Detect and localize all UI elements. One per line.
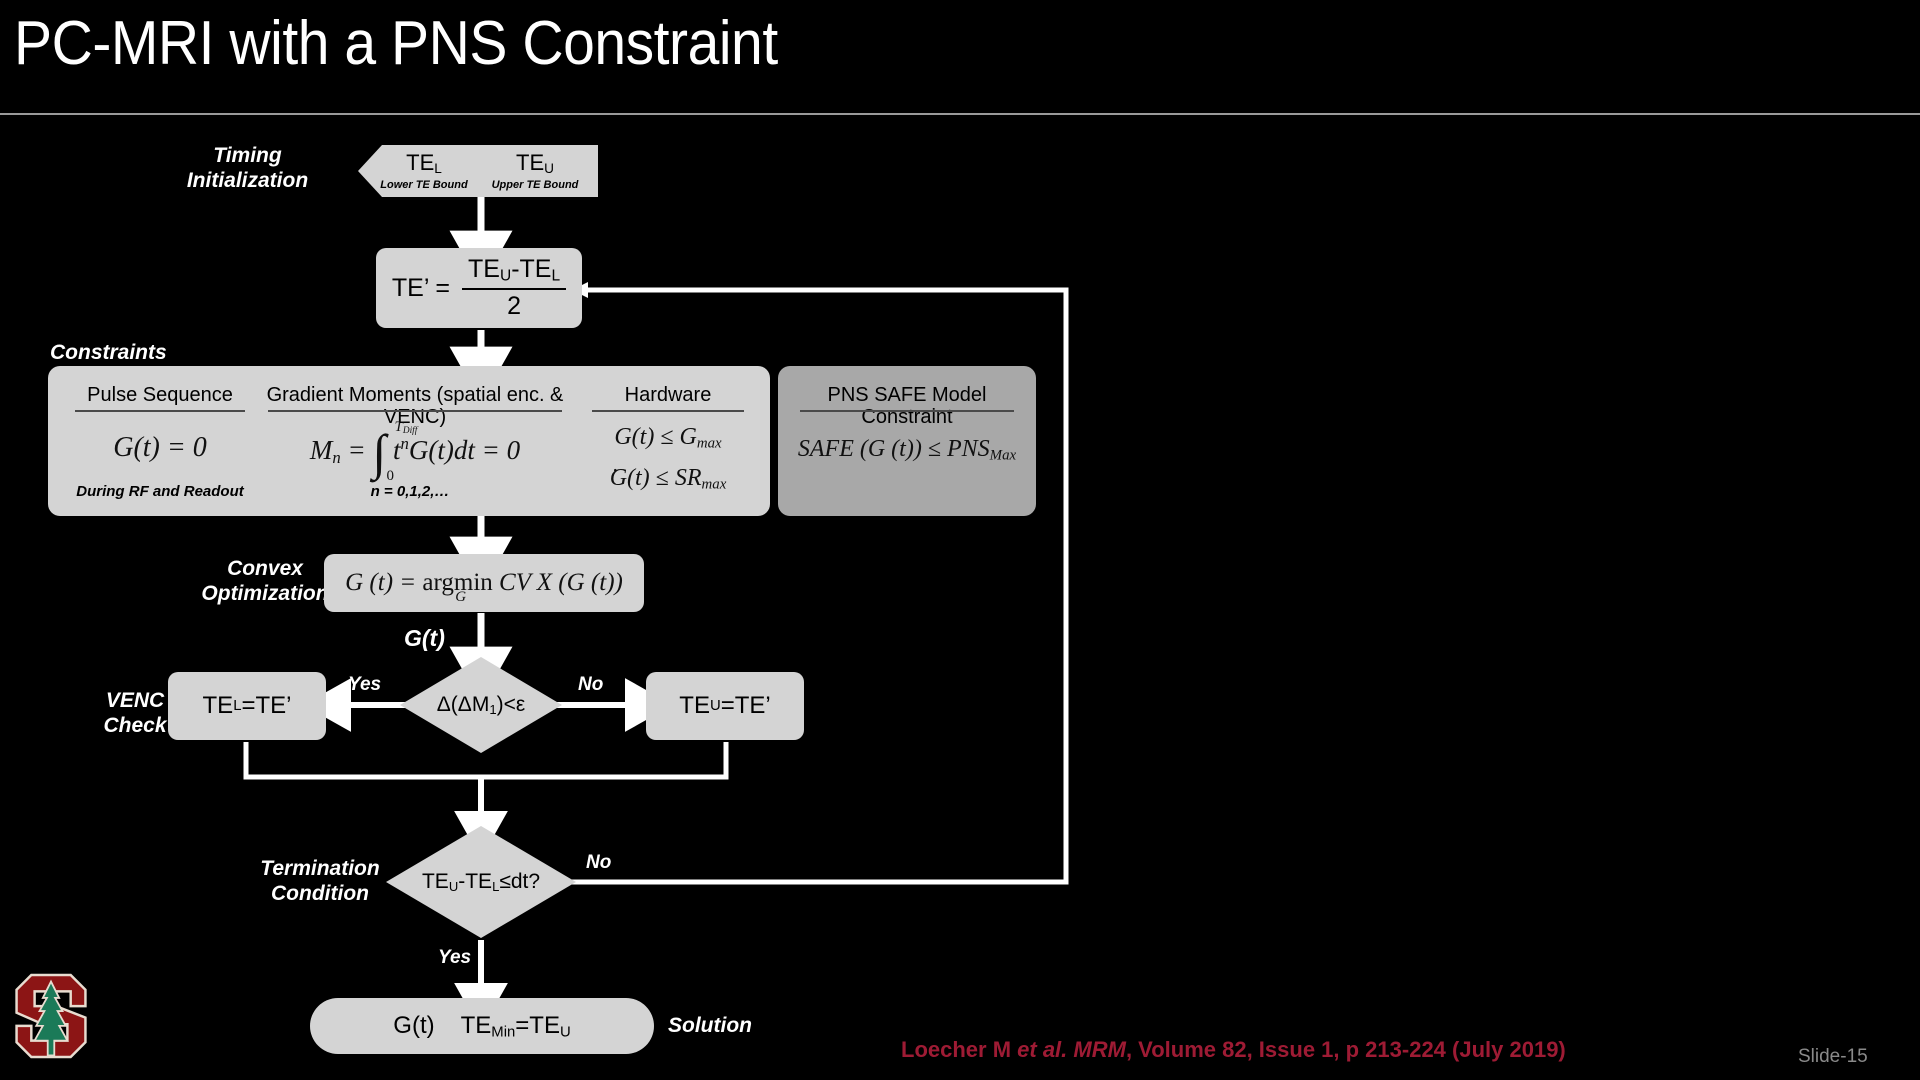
- te-prime-formula-box: TE’ = TEU-TEL 2: [376, 248, 582, 328]
- convex-optimization-box: G (t) = argmin G CV X (G (t)): [324, 554, 644, 612]
- section-label-termination: Termination Condition: [230, 856, 410, 906]
- pns-safe-equation: SAFE (G (t)) ≤ PNSMax: [776, 436, 1038, 464]
- slide-number: Slide-15: [1798, 1046, 1868, 1068]
- title-divider: [0, 113, 1920, 115]
- logo-svg: [10, 970, 92, 1062]
- integral-glyph: ∫ TDiff 0: [373, 430, 387, 476]
- constraint-equation-pulse-sequence: G(t) = 0: [62, 432, 258, 464]
- section-label-constraints: Constraints: [50, 340, 230, 365]
- termination-yes-label: Yes: [438, 947, 471, 969]
- te-lower-bound-cell: TEL Lower TE Bound: [370, 150, 478, 191]
- convex-equation: G (t) = argmin G CV X (G (t)): [345, 569, 623, 597]
- te-prime-lhs: TE’ =: [392, 274, 450, 303]
- te-prime-numerator: TEU-TEL: [462, 255, 566, 287]
- pns-safe-header: PNS SAFE Model Constraint: [788, 384, 1026, 428]
- constraint-rule-2: [268, 410, 562, 412]
- constraint-note-gradient-moments: n = 0,1,2,…: [300, 483, 520, 500]
- page-title: PC-MRI with a PNS Constraint: [14, 8, 778, 79]
- venc-no-result-box: TEU=TE’: [646, 672, 804, 740]
- venc-yes-result-box: TEL=TE’: [168, 672, 326, 740]
- solution-temin: TEMin=TEU: [461, 1012, 571, 1040]
- te-prime-denominator: 2: [462, 288, 566, 321]
- constraint-header-pulse-sequence: Pulse Sequence: [62, 384, 258, 406]
- constraint-equation-gradient-moments: Mn = ∫ TDiff 0 tnG(t)dt = 0: [258, 430, 572, 476]
- te-prime-fraction: TEU-TEL 2: [462, 255, 566, 320]
- slide-canvas: PC-MRI with a PNS Constraint Timi: [0, 0, 1920, 1080]
- termination-no-label: No: [586, 852, 611, 874]
- termination-condition-text: TEU-TEL≤dt?: [422, 870, 540, 894]
- venc-check-diamond: Δ(ΔM1)<ε: [400, 657, 562, 753]
- pns-safe-rule: [800, 410, 1014, 412]
- argmin-operator: argmin G: [422, 569, 492, 597]
- citation-footer: Loecher M et al. MRM, Volume 82, Issue 1…: [901, 1037, 1566, 1063]
- venc-yes-label: Yes: [348, 674, 381, 696]
- te-upper-bound-cell: TEU Upper TE Bound: [478, 150, 592, 191]
- te-upper-caption: Upper TE Bound: [478, 179, 592, 191]
- integral-upper-limit: TDiff: [395, 419, 418, 436]
- solution-box: G(t) TEMin=TEU: [310, 998, 654, 1054]
- constraint-equation-hardware-gmax: G(t) ≤ Gmax: [578, 424, 758, 452]
- te-lower-caption: Lower TE Bound: [370, 179, 478, 191]
- signal-label-gt: G(t): [404, 625, 445, 652]
- citation-suffix: , Volume 82, Issue 1, p 213-224 (July 20…: [1126, 1037, 1566, 1062]
- constraint-note-pulse-sequence: During RF and Readout: [52, 483, 268, 500]
- constraint-equation-hardware-srmax: ̇G(t) ≤ SRmax: [578, 465, 758, 493]
- te-upper-symbol: TEU: [478, 150, 592, 176]
- citation-journal: et al. MRM: [1017, 1037, 1126, 1062]
- venc-condition-text: Δ(ΔM1)<ε: [437, 693, 525, 717]
- constraint-rule-3: [592, 410, 744, 412]
- section-label-solution: Solution: [668, 1013, 788, 1038]
- te-lower-symbol: TEL: [370, 150, 478, 176]
- constraint-header-hardware: Hardware: [578, 384, 758, 406]
- termination-condition-diamond: TEU-TEL≤dt?: [386, 826, 576, 938]
- citation-prefix: Loecher M: [901, 1037, 1017, 1062]
- stanford-block-s-tree-logo: [10, 970, 92, 1062]
- constraint-rule-1: [75, 410, 245, 412]
- solution-gt: G(t): [393, 1012, 434, 1040]
- section-label-timing: Timing Initialization: [150, 143, 345, 193]
- venc-no-label: No: [578, 674, 603, 696]
